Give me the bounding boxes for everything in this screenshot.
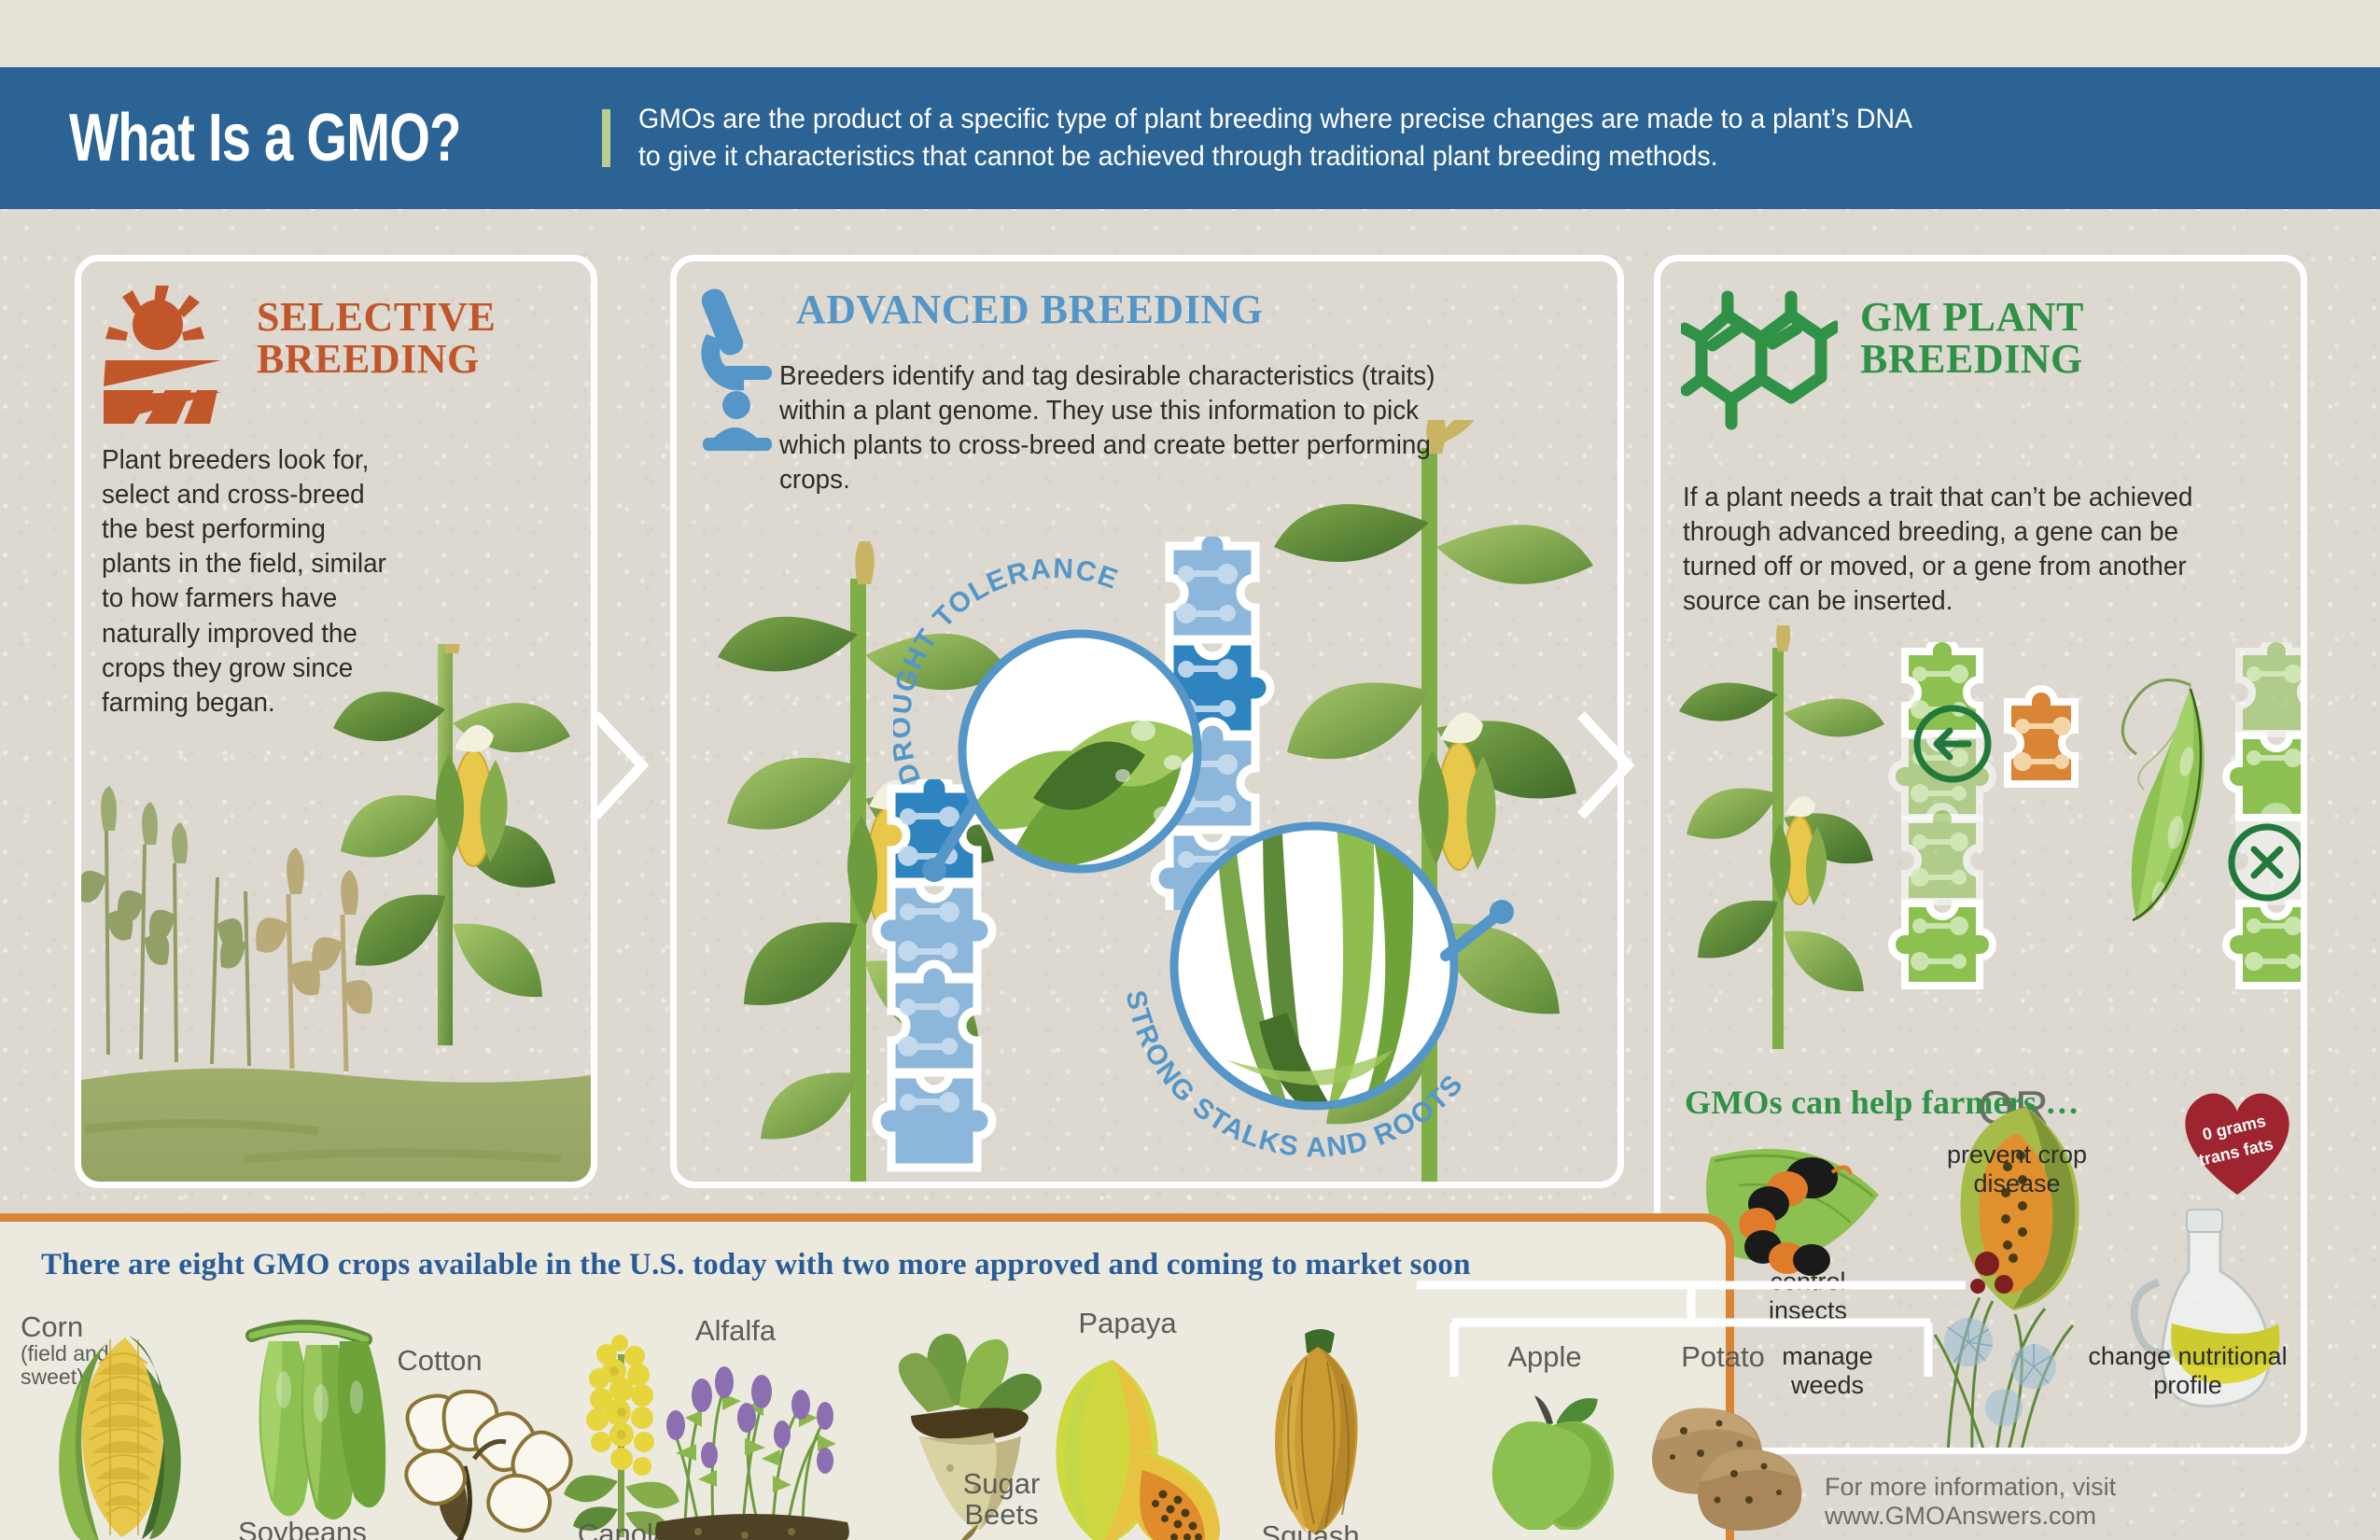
microscope-icon — [693, 286, 783, 468]
left-arrow-circle-icon — [1911, 702, 1995, 786]
crop-label-alfalfa: Alfalfa — [642, 1315, 829, 1346]
crop-label-squash: Squash — [1226, 1520, 1394, 1540]
soybean-pod-illustration — [2101, 672, 2260, 1036]
potato-icon — [1631, 1395, 1809, 1535]
apple-icon — [1486, 1390, 1621, 1530]
crop-label-potato: Potato — [1639, 1341, 1807, 1372]
inserted-gene-puzzle-piece — [1976, 681, 2107, 859]
advanced-body-text: Breeders identify and tag desirable char… — [779, 359, 1469, 497]
molecule-hexagon-icon — [1681, 287, 1838, 451]
coming-soon-bracket — [1411, 1278, 1971, 1399]
page-title: What Is a GMO? — [69, 100, 461, 176]
header-subtitle: GMOs are the product of a specific type … — [638, 101, 1933, 175]
alfalfa-icon — [642, 1358, 866, 1540]
gm-body-text: If a plant needs a trait that can’t be a… — [1683, 481, 2220, 619]
gm-heading-group: GM PLANT BREEDING — [1681, 287, 2084, 451]
header-divider — [602, 109, 610, 167]
panel-advanced-breeding: DROUGHT TOLERANCE STRONG STALKS AND ROOT… — [670, 255, 1624, 1188]
squash-icon — [1251, 1319, 1391, 1540]
benefit-label-change-nutritional-profile: change nutritional profile — [2080, 1342, 2295, 1400]
gm-title: GM PLANT BREEDING — [1860, 297, 2084, 381]
flow-chevron-2 — [1575, 709, 1635, 821]
selective-body-text: Plant breeders look for, select and cros… — [102, 443, 398, 721]
cotton-boll-icon — [383, 1386, 579, 1540]
papaya-icon — [1038, 1352, 1253, 1540]
crop-label-soybeans: Soybeans — [209, 1517, 396, 1540]
footer-note: For more information, visit www.GMOAnswe… — [1825, 1473, 2380, 1531]
page-header: What Is a GMO? GMOs are the product of a… — [0, 67, 2380, 209]
crops-title: There are eight GMO crops available in t… — [41, 1248, 1471, 1282]
crop-label-cotton: Cotton — [360, 1345, 519, 1376]
flow-chevron-1 — [590, 709, 650, 821]
gmo-crops-panel: There are eight GMO crops available in t… — [0, 1213, 1734, 1540]
top-strip — [0, 0, 2380, 67]
selective-title: SELECTIVE BREEDING — [257, 297, 496, 381]
benefit-label-prevent-crop-disease: prevent crop disease — [1924, 1141, 2110, 1198]
panel-selective-breeding: SELECTIVE BREEDING Plant breeders look f… — [75, 255, 597, 1188]
selective-heading-group: SELECTIVE BREEDING — [100, 286, 496, 435]
advanced-title: ADVANCED BREEDING — [796, 289, 1263, 331]
crop-label-apple: Apple — [1465, 1341, 1624, 1372]
trans-fats-heart-badge: 0 grams trans fats — [2172, 1081, 2301, 1202]
corn-icon — [49, 1326, 198, 1540]
cornfield-illustration — [81, 644, 591, 1182]
sun-over-field-icon — [100, 286, 240, 435]
panel-gm-plant-breeding: GM PLANT BREEDING If a plant needs a tra… — [1654, 255, 2307, 1454]
crop-label-papaya: Papaya — [1053, 1308, 1202, 1338]
